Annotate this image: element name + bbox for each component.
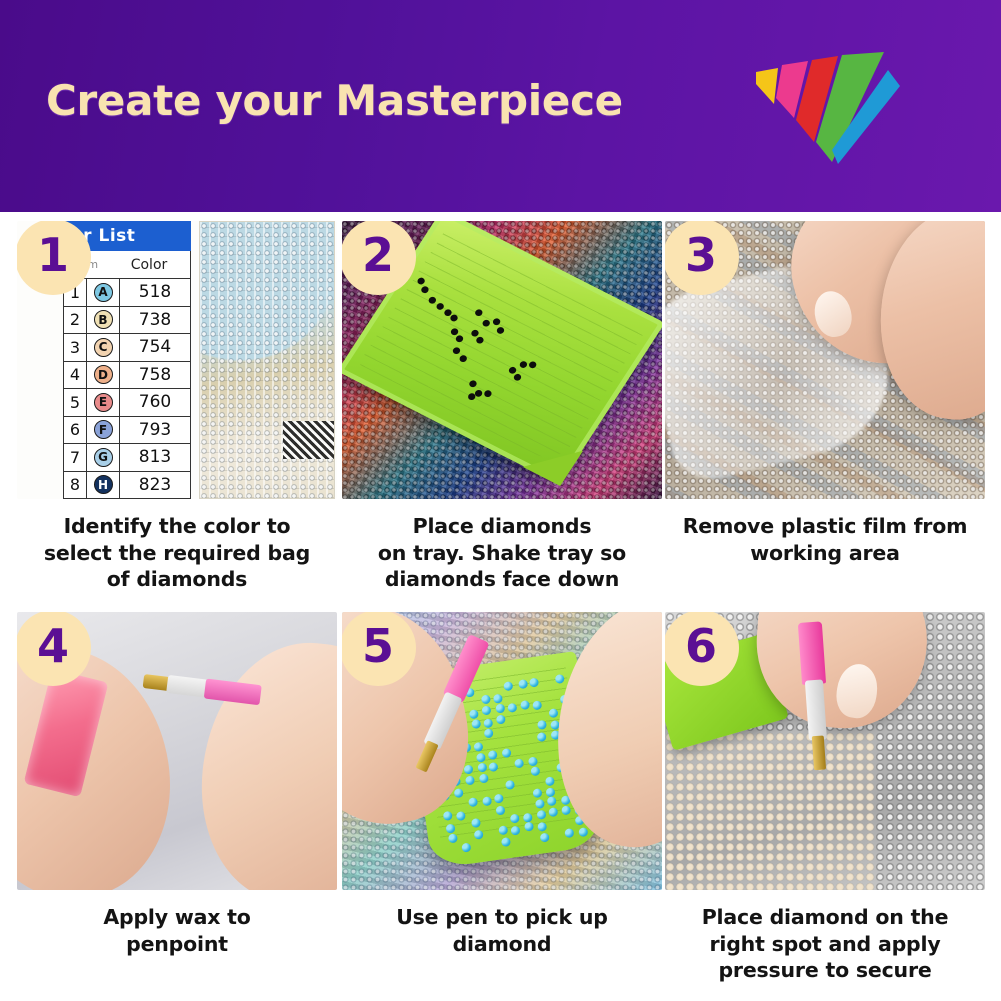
color-list-row: 5E760 bbox=[63, 389, 191, 417]
blue-diamond bbox=[530, 766, 540, 776]
step-6-image: 6 bbox=[665, 612, 985, 890]
blue-diamond bbox=[529, 678, 539, 688]
blue-diamond bbox=[446, 823, 456, 833]
column-header-color: Color bbox=[108, 257, 190, 273]
blue-diamond bbox=[479, 773, 489, 783]
step-caption-2: Place diamonds on tray. Shake tray so di… bbox=[342, 513, 662, 593]
blue-diamond bbox=[448, 834, 458, 844]
blue-diamond bbox=[481, 695, 491, 705]
step-card-1: or List Sym Color 1A5182B7383C7544D7585E… bbox=[17, 221, 337, 593]
logo-stripe-yellow bbox=[756, 68, 778, 104]
blue-diamond bbox=[532, 788, 542, 798]
blue-diamond bbox=[537, 732, 547, 742]
hand-right bbox=[190, 633, 337, 890]
color-list-row: 8H823 bbox=[63, 472, 191, 500]
blue-diamond bbox=[548, 807, 558, 817]
step-card-5: 5 Use pen to pick up diamond bbox=[342, 612, 662, 957]
step-card-3: 3 Remove plastic film from working area bbox=[665, 221, 985, 566]
blue-diamond bbox=[481, 706, 491, 716]
steps-grid: or List Sym Color 1A5182B7383C7544D7585E… bbox=[0, 212, 1001, 1001]
color-swatch: D bbox=[94, 365, 113, 384]
pen-tip bbox=[812, 735, 826, 770]
placed-diamonds-area bbox=[665, 732, 875, 890]
dmc-code: 754 bbox=[120, 337, 190, 357]
row-index: 2 bbox=[64, 306, 87, 333]
color-swatch: B bbox=[94, 310, 113, 329]
blue-diamond bbox=[473, 741, 483, 751]
row-index: 5 bbox=[64, 389, 87, 416]
row-symbol-cell: G bbox=[87, 444, 120, 471]
row-index: 7 bbox=[64, 444, 87, 471]
row-symbol-cell: F bbox=[87, 417, 120, 444]
blue-diamond bbox=[539, 832, 549, 842]
blue-diamond bbox=[465, 776, 475, 786]
blue-diamond bbox=[501, 748, 511, 758]
page-title: Create your Masterpiece bbox=[46, 76, 623, 125]
blue-diamond bbox=[443, 811, 453, 821]
color-swatch: H bbox=[94, 475, 113, 494]
row-symbol-cell: D bbox=[87, 362, 120, 389]
pen-grip bbox=[798, 621, 826, 685]
blue-diamond bbox=[477, 762, 487, 772]
blue-diamond bbox=[510, 813, 520, 823]
blue-diamond bbox=[471, 818, 481, 828]
blue-diamond bbox=[495, 704, 505, 714]
blue-diamond bbox=[544, 776, 554, 786]
blue-diamond bbox=[454, 788, 464, 798]
blue-diamond bbox=[528, 756, 538, 766]
blue-diamond bbox=[495, 715, 505, 725]
blue-diamond bbox=[493, 694, 503, 704]
blue-diamond bbox=[548, 708, 558, 718]
blue-diamond bbox=[511, 825, 521, 835]
step-3-image: 3 bbox=[665, 221, 985, 499]
blue-diamond bbox=[505, 780, 515, 790]
blue-diamond bbox=[565, 828, 575, 838]
blue-diamond bbox=[482, 796, 492, 806]
blue-diamond bbox=[473, 829, 483, 839]
dmc-code: 738 bbox=[120, 310, 190, 330]
blue-diamond bbox=[484, 729, 494, 739]
blue-diamond bbox=[468, 797, 478, 807]
step-caption-1: Identify the color to select the require… bbox=[17, 513, 337, 593]
blue-diamond bbox=[461, 843, 471, 853]
dmc-code: 758 bbox=[120, 365, 190, 385]
blue-diamond bbox=[471, 718, 481, 728]
blue-diamond bbox=[507, 703, 517, 713]
color-list-row: 6F793 bbox=[63, 417, 191, 445]
pen-barrel bbox=[805, 679, 827, 740]
dmc-code: 823 bbox=[120, 475, 190, 495]
blue-diamond bbox=[469, 709, 479, 719]
step-caption-5: Use pen to pick up diamond bbox=[342, 904, 662, 957]
row-symbol-cell: C bbox=[87, 334, 120, 361]
blue-diamond bbox=[532, 700, 542, 710]
blue-diamond bbox=[537, 720, 547, 730]
blue-diamond bbox=[456, 810, 466, 820]
blue-diamond bbox=[503, 681, 513, 691]
blue-diamond bbox=[523, 813, 533, 823]
color-list-rows: 1A5182B7383C7544D7585E7606F7937G8138H823… bbox=[63, 279, 191, 499]
color-swatch: F bbox=[94, 420, 113, 439]
blue-diamond bbox=[499, 825, 509, 835]
blue-diamond bbox=[578, 827, 588, 837]
color-list-row: 4D758 bbox=[63, 362, 191, 390]
color-swatch: G bbox=[94, 448, 113, 467]
step-card-4: 4 Apply wax to penpoint bbox=[17, 612, 337, 957]
blue-diamond bbox=[537, 822, 547, 832]
diamond-stripes-logo bbox=[738, 38, 908, 166]
blue-diamond bbox=[514, 758, 524, 768]
row-index: 6 bbox=[64, 416, 87, 443]
partial-canvas-swatch bbox=[199, 221, 335, 499]
step-caption-4: Apply wax to penpoint bbox=[17, 904, 337, 957]
step-caption-3: Remove plastic film from working area bbox=[665, 513, 985, 566]
color-list-row: 7G813 bbox=[63, 444, 191, 472]
row-index: 8 bbox=[64, 471, 87, 498]
dmc-code: 760 bbox=[120, 392, 190, 412]
blue-diamond bbox=[488, 762, 498, 772]
row-symbol-cell: E bbox=[87, 389, 120, 416]
blue-diamond bbox=[535, 799, 545, 809]
step-card-6: 6 Place diamond on the right spot and ap… bbox=[665, 612, 985, 984]
step-2-image: 2 bbox=[342, 221, 662, 499]
step-5-image: 5 bbox=[342, 612, 662, 890]
blue-diamond bbox=[545, 787, 555, 797]
color-list-row: 2B738 bbox=[63, 307, 191, 335]
blue-diamond bbox=[536, 809, 546, 819]
dmc-code: 813 bbox=[120, 447, 190, 467]
pen-barrel bbox=[166, 675, 208, 698]
blue-diamond bbox=[524, 822, 534, 832]
blue-diamond bbox=[518, 679, 528, 689]
blue-diamond bbox=[494, 794, 504, 804]
color-list-row: 3C754 bbox=[63, 334, 191, 362]
color-list-row: 1A518 bbox=[63, 279, 191, 307]
blue-diamond bbox=[483, 718, 493, 728]
blue-diamond bbox=[487, 750, 497, 760]
blue-diamond bbox=[476, 752, 486, 762]
row-symbol-cell: H bbox=[87, 472, 120, 499]
color-swatch: A bbox=[94, 283, 113, 302]
row-index: 4 bbox=[64, 361, 87, 388]
row-symbol-cell: A bbox=[87, 279, 120, 306]
step-card-2: 2 Place diamonds on tray. Shake tray so … bbox=[342, 221, 662, 593]
blue-diamond bbox=[547, 796, 557, 806]
page-header: Create your Masterpiece bbox=[0, 0, 1001, 212]
row-index: 3 bbox=[64, 334, 87, 361]
color-swatch: E bbox=[94, 393, 113, 412]
blue-diamond bbox=[555, 673, 565, 683]
step-1-image: or List Sym Color 1A5182B7383C7544D7585E… bbox=[17, 221, 337, 499]
blue-diamond bbox=[520, 700, 530, 710]
dmc-code: 518 bbox=[120, 282, 190, 302]
step-4-image: 4 bbox=[17, 612, 337, 890]
color-swatch: C bbox=[94, 338, 113, 357]
blue-diamond bbox=[500, 837, 510, 847]
dmc-code: 793 bbox=[120, 420, 190, 440]
step-caption-6: Place diamond on the right spot and appl… bbox=[665, 904, 985, 984]
blue-diamond bbox=[561, 805, 571, 815]
blue-diamond bbox=[495, 805, 505, 815]
row-symbol-cell: B bbox=[87, 307, 120, 334]
